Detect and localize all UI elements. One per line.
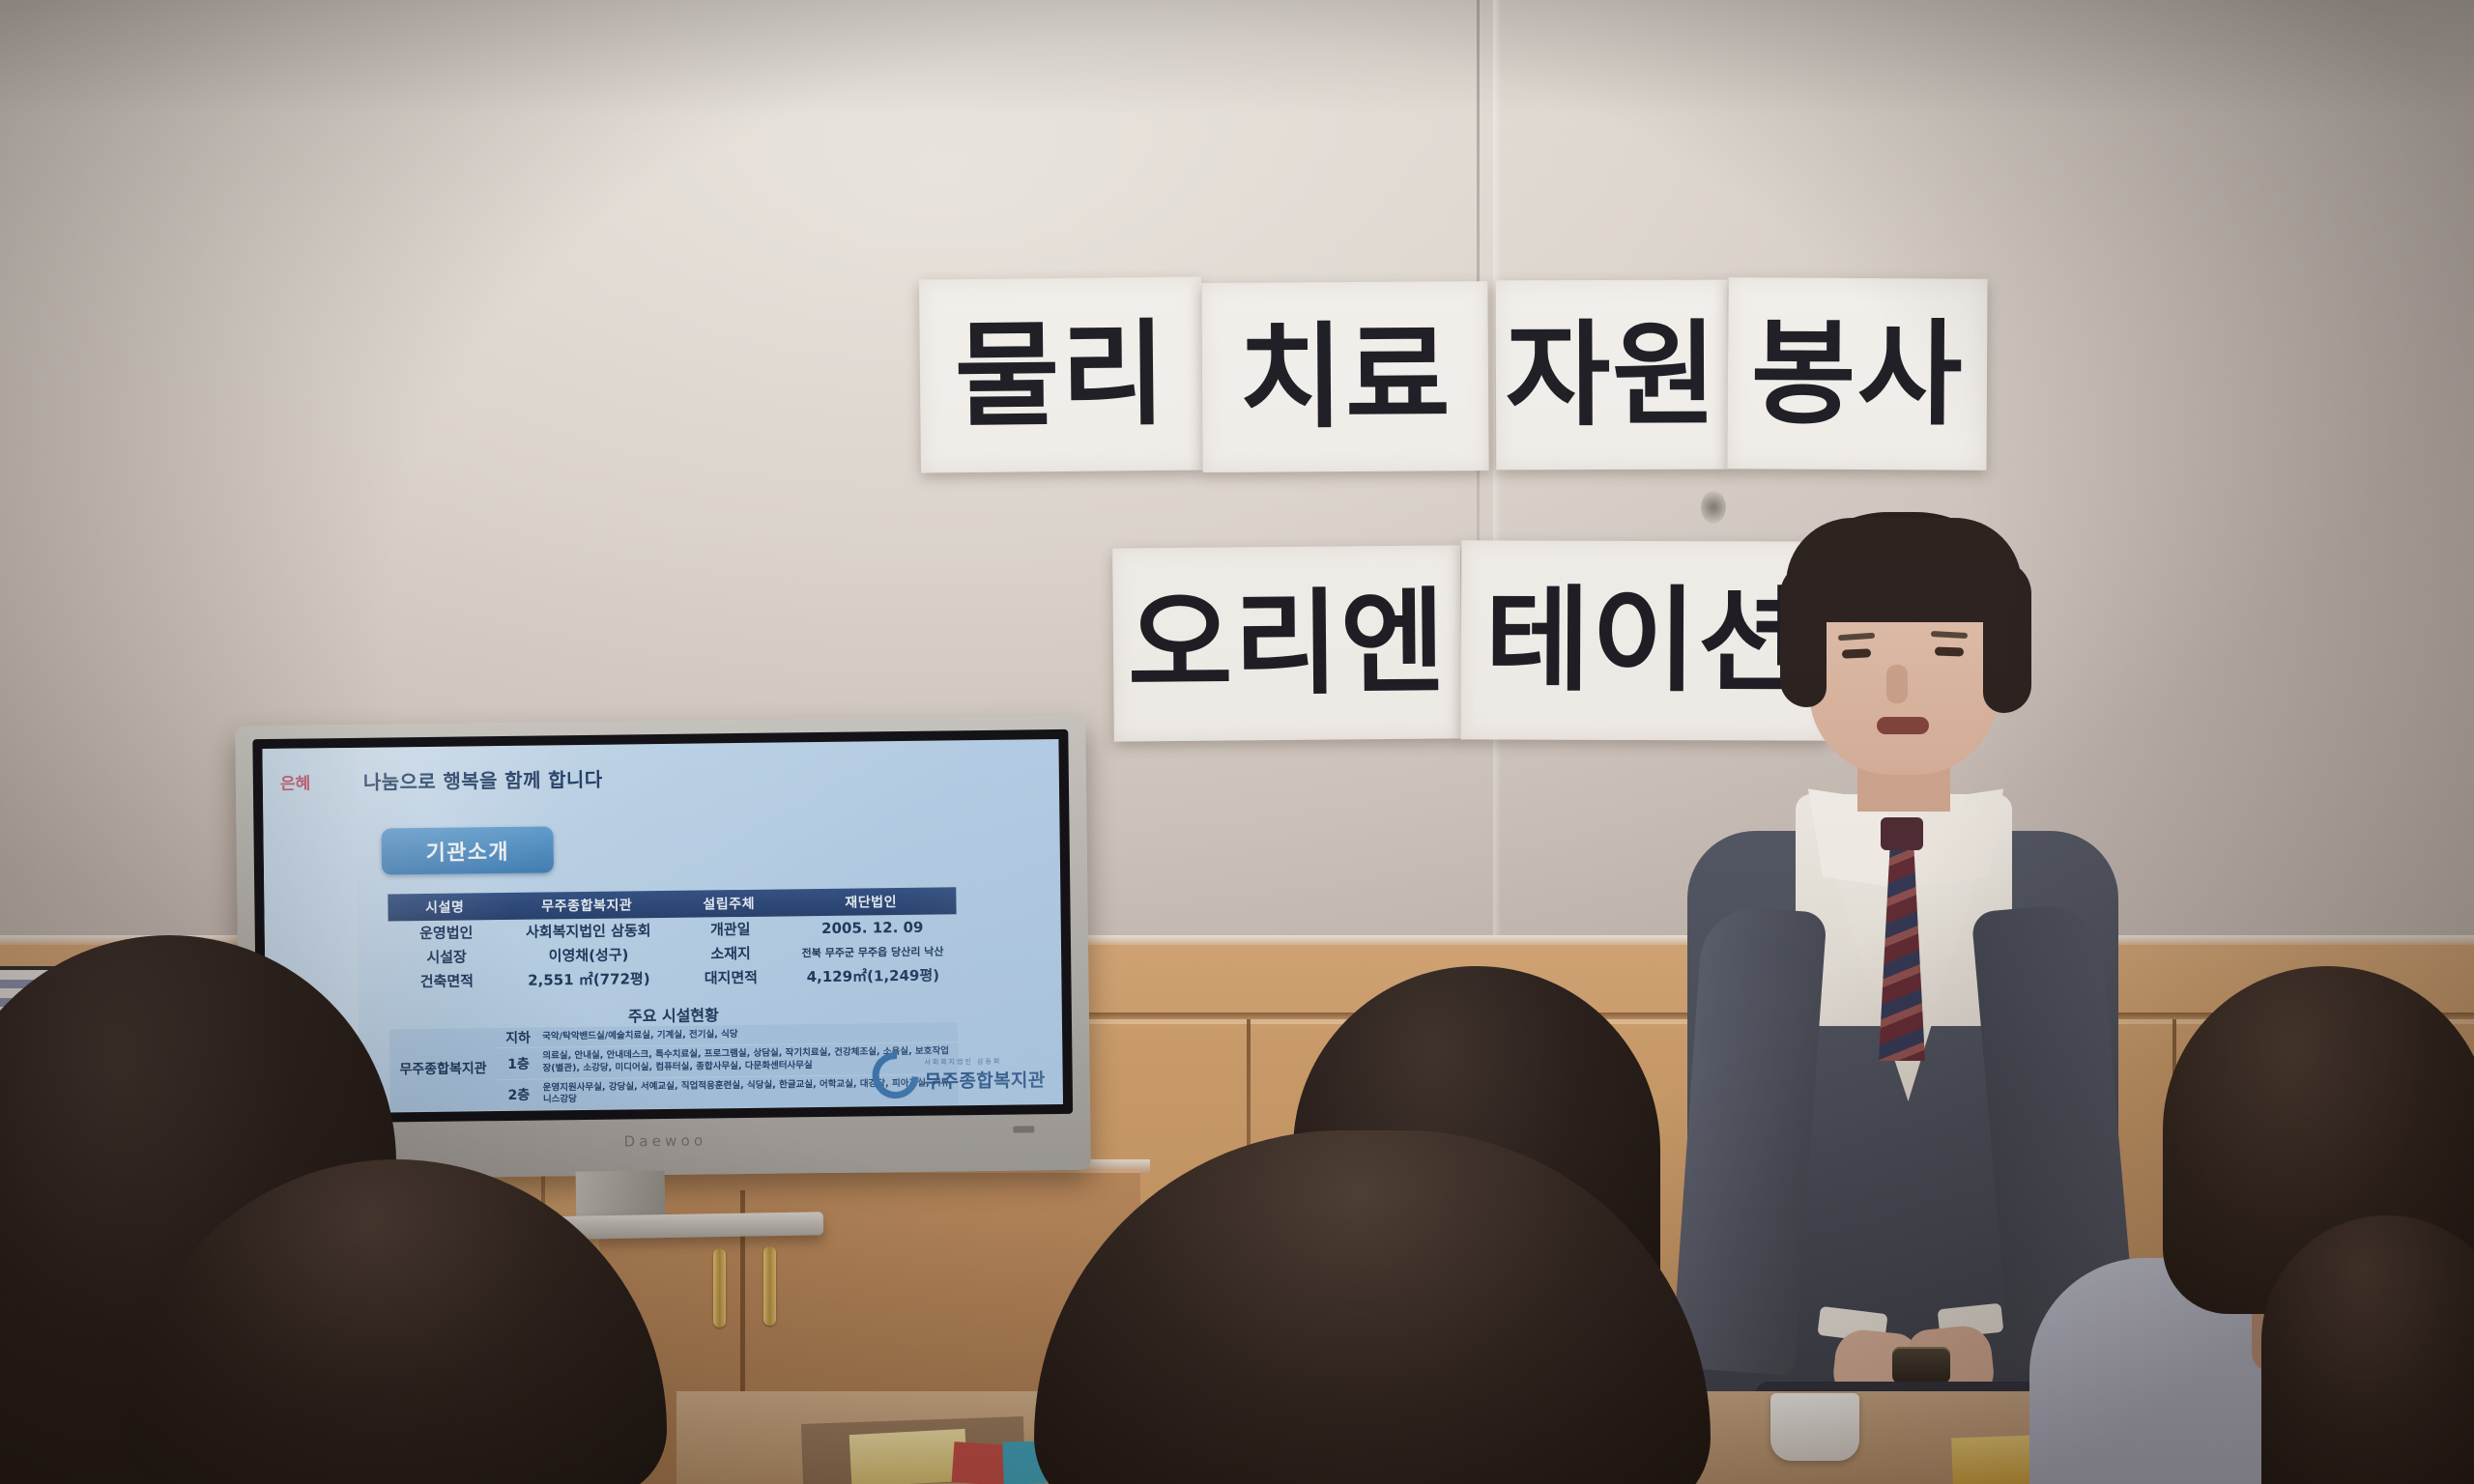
floor-label: 지하	[496, 1028, 540, 1048]
presenter-eye-left	[1842, 648, 1871, 659]
facility-info-table: 시설명 무주종합복지관 설립주체 재단법인 운영법인 사회복지법인 삼동회 개관…	[388, 887, 957, 993]
banner-text: 오리엔	[1127, 585, 1448, 702]
organization-logo: 사회복지법인 삼동회 무주종합복지관	[872, 1050, 1046, 1099]
table-cell: 운영법인	[388, 922, 504, 943]
table-cell: 개관일	[673, 918, 789, 939]
cabinet-handle-left[interactable]	[713, 1248, 726, 1327]
presenter-hair-side-right	[1983, 560, 2031, 713]
presentation-slide: 은혜 나눔으로 행복을 함께 합니다 기관소개 시설명 무주종합복지관 설립주체…	[262, 739, 1063, 1114]
table-cell: 전북 무주군 무주읍 당산리 낙산	[789, 943, 957, 960]
floor-label: 1층	[496, 1053, 540, 1073]
floor-label: 2층	[497, 1085, 541, 1105]
ceiling-shadow	[0, 0, 2474, 116]
banner-text: 치료	[1238, 319, 1452, 435]
tv-inner-bezel: 은혜 나눔으로 행복을 함께 합니다 기관소개 시설명 무주종합복지관 설립주체…	[252, 729, 1073, 1124]
presenter-hair-side-left	[1780, 562, 1827, 707]
table-cell: 소재지	[673, 942, 789, 963]
table-cell: 2005. 12. 09	[789, 918, 957, 937]
tv-power-led	[1013, 1126, 1034, 1132]
banner-sheet-4: 봉사	[1727, 277, 1987, 470]
slide-section-tag: 기관소개	[381, 826, 554, 874]
banner-sheet-3: 자원	[1496, 280, 1729, 471]
table-header-cell: 무주종합복지관	[502, 895, 673, 916]
cabinet-handle-right[interactable]	[763, 1246, 776, 1326]
slide-header: 나눔으로 행복을 함께 합니다	[363, 764, 603, 795]
logo-title: 무주종합복지관	[924, 1066, 1045, 1094]
banner-sheet-1: 물리	[919, 276, 1203, 472]
banner-text: 물리	[954, 317, 1168, 433]
table-cell: 시설장	[388, 946, 504, 967]
tv-screen: 은혜 나눔으로 행복을 함께 합니다 기관소개 시설명 무주종합복지관 설립주체…	[262, 739, 1063, 1114]
snack-box-red	[952, 1441, 1009, 1484]
presentation-clicker[interactable]	[1892, 1347, 1950, 1384]
table-cell: 대지면적	[673, 966, 789, 987]
presenter-mouth	[1877, 717, 1929, 734]
slide-header-accent: 은혜	[280, 769, 311, 793]
table-header-cell: 시설명	[388, 897, 502, 917]
presenter-tie-knot	[1881, 817, 1923, 850]
table-cell: 사회복지법인 삼동회	[504, 920, 673, 942]
banner-text: 봉사	[1751, 316, 1965, 431]
snack-box-yellow	[849, 1429, 968, 1484]
facility-name-cell: 무주종합복지관	[389, 1028, 497, 1112]
table-cell: 이영채(성구)	[504, 944, 673, 966]
seminar-room-photo: 물리 치료 자원 봉사 오리엔 테이션 은혜 나눔으로 행복을 함께 합니다 기…	[0, 0, 2474, 1484]
audience-head-6	[2261, 1215, 2474, 1484]
table-header-cell: 재단법인	[786, 891, 957, 912]
wall-seam-highlight	[1493, 0, 1501, 956]
banner-sheet-5: 오리엔	[1112, 545, 1462, 741]
logo-ring-icon	[863, 1042, 929, 1108]
table-cell: 건축면적	[388, 970, 504, 991]
paper-cup	[1770, 1393, 1859, 1461]
table-cell: 4,129㎡(1,249평)	[789, 964, 957, 986]
table-header-cell: 설립주체	[672, 893, 786, 913]
presenter-nose	[1886, 665, 1908, 703]
table-cell: 2,551 ㎡(772평)	[504, 968, 673, 990]
presenter-eye-right	[1935, 646, 1964, 656]
banner-sheet-2: 치료	[1201, 281, 1488, 472]
banner-text: 자원	[1506, 318, 1719, 433]
